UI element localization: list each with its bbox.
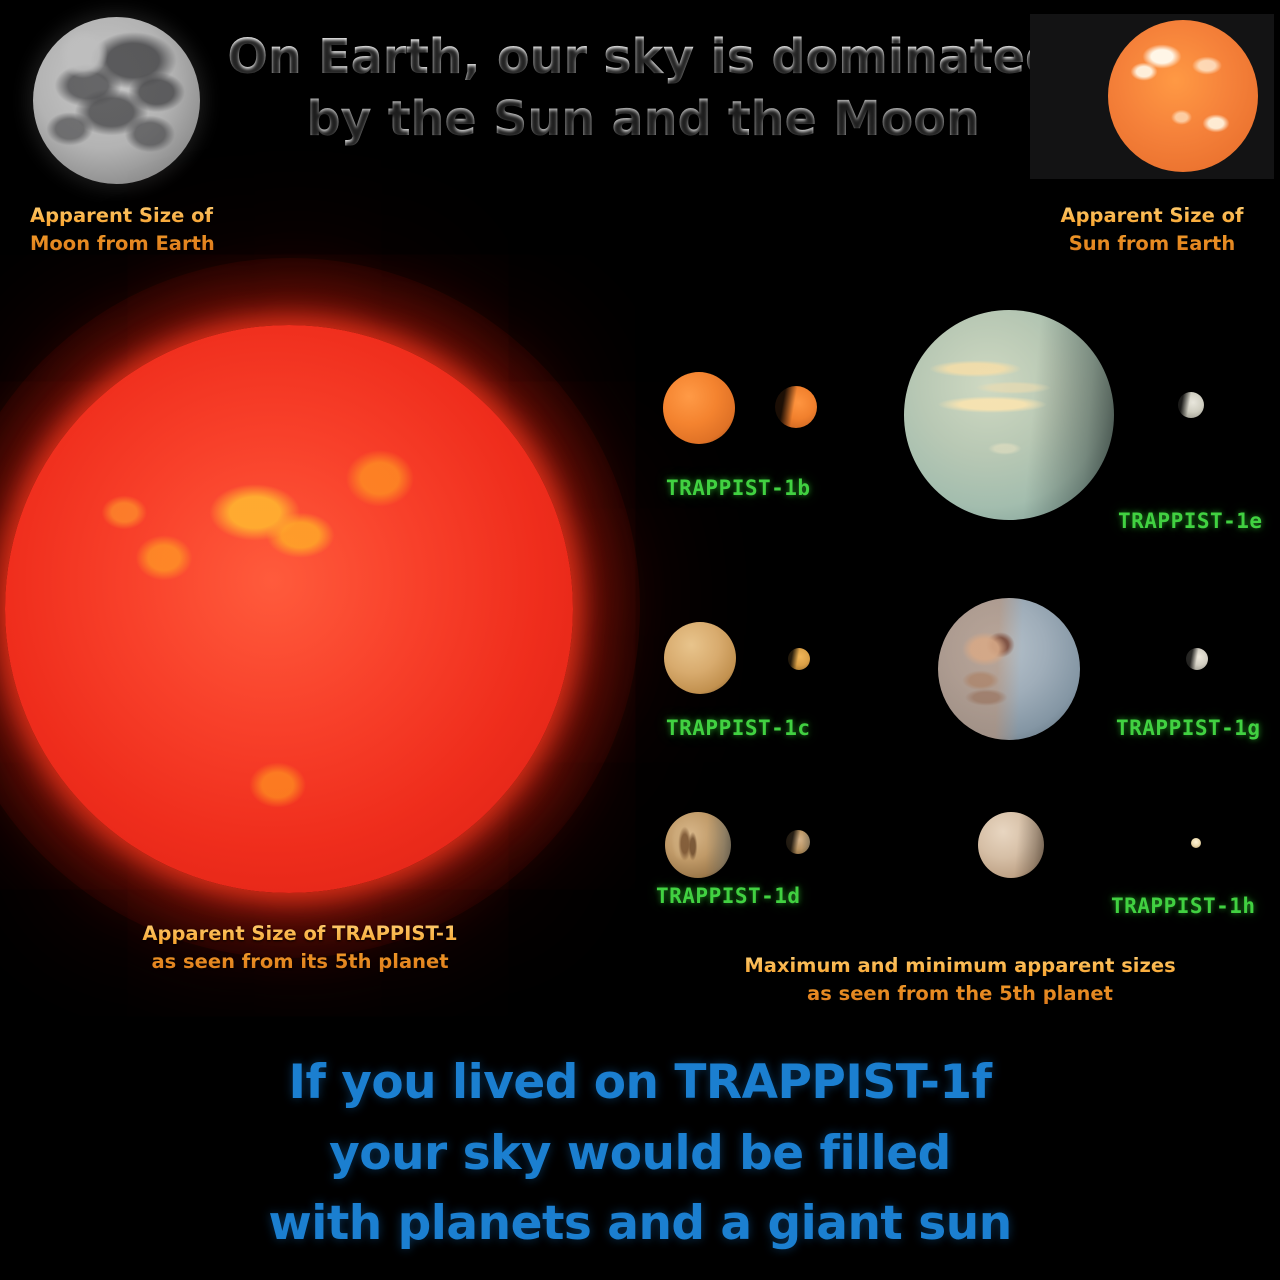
planet-label-1c: TRAPPIST-1c (666, 716, 811, 740)
planet-1h-minimum-size (1191, 838, 1201, 848)
sun-caption: Apparent Size of Sun from Earth (1028, 202, 1276, 257)
planet-label-1e: TRAPPIST-1e (1118, 509, 1263, 533)
planet-1b-minimum-size (775, 386, 817, 428)
page-title: On Earth, our sky is dominated by the Su… (208, 26, 1078, 151)
planet-1d-minimum-size (786, 830, 810, 854)
planet-label-1g: TRAPPIST-1g (1116, 716, 1261, 740)
planet-1c-minimum-size (788, 648, 810, 670)
infographic-canvas: On Earth, our sky is dominated by the Su… (0, 0, 1280, 1280)
planet-1d-maximum-size (665, 812, 731, 878)
trappist-1-star-disk (5, 325, 573, 893)
moon-caption-line-2: Moon from Earth (30, 230, 270, 258)
planet-1g-maximum-size (938, 598, 1080, 740)
planet-1h-maximum-size (978, 812, 1044, 878)
planet-label-1b: TRAPPIST-1b (666, 476, 811, 500)
moon-caption-line-1: Apparent Size of (30, 202, 270, 230)
conclusion-line-3: with planets and a giant sun (140, 1189, 1140, 1260)
planet-label-1h: TRAPPIST-1h (1111, 894, 1256, 918)
conclusion-line-2: your sky would be filled (140, 1119, 1140, 1190)
planet-label-1d: TRAPPIST-1d (656, 884, 801, 908)
planet-1b-maximum-size (663, 372, 735, 444)
planets-caption: Maximum and minimum apparent sizes as se… (680, 952, 1240, 1007)
moon-image (33, 17, 200, 184)
planet-1e-maximum-size (904, 310, 1114, 520)
planet-1g-minimum-size (1186, 648, 1208, 670)
page-title-line-2: by the Sun and the Moon (208, 88, 1078, 150)
star-caption: Apparent Size of TRAPPIST-1 as seen from… (60, 920, 540, 975)
conclusion-line-1: If you lived on TRAPPIST-1f (140, 1048, 1140, 1119)
sun-caption-line-2: Sun from Earth (1028, 230, 1276, 258)
planets-caption-line-2: as seen from the 5th planet (680, 980, 1240, 1008)
planet-1c-maximum-size (664, 622, 736, 694)
sun-caption-line-1: Apparent Size of (1028, 202, 1276, 230)
planets-caption-line-1: Maximum and minimum apparent sizes (680, 952, 1240, 980)
sun-image (1108, 20, 1258, 172)
star-caption-line-2: as seen from its 5th planet (60, 948, 540, 976)
page-title-line-1: On Earth, our sky is dominated (208, 26, 1078, 88)
planet-1e-minimum-size (1178, 392, 1204, 418)
moon-caption: Apparent Size of Moon from Earth (30, 202, 270, 257)
star-caption-line-1: Apparent Size of TRAPPIST-1 (60, 920, 540, 948)
conclusion-text: If you lived on TRAPPIST-1f your sky wou… (140, 1048, 1140, 1260)
